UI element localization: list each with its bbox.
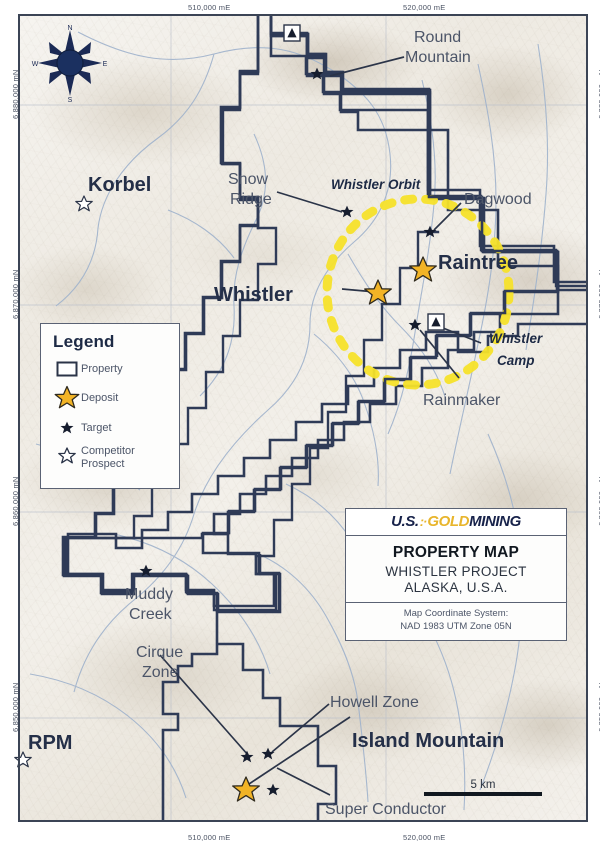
hollow-star-icon [53, 446, 81, 466]
title-block-main: PROPERTY MAP WHISTLER PROJECT ALASKA, U.… [346, 536, 566, 602]
grid-label-left: 6,870,000 mN [11, 269, 20, 319]
grid-label-left: 6,860,000 mN [11, 476, 20, 526]
legend-item-label: Competitor Prospect [81, 445, 135, 470]
compass-w: W [32, 61, 39, 68]
legend-item-label: Property [81, 363, 123, 376]
property-rectangle-icon [53, 361, 81, 377]
compass-n: N [67, 25, 72, 32]
map-title: PROPERTY MAP [352, 544, 560, 562]
compass-s: S [68, 97, 73, 104]
compass-rose-icon: N S E W [30, 22, 110, 104]
legend-panel: Legend Property Deposit Target [40, 323, 180, 489]
legend-title: Legend [53, 332, 169, 352]
legend-item-label: Deposit [81, 392, 118, 405]
black-star-icon [53, 419, 81, 437]
title-block: U.S.:·GOLDMINING PROPERTY MAP WHISTLER P… [345, 508, 567, 641]
legend-item-property: Property [53, 361, 169, 377]
grid-label-bottom: 510,000 mE [188, 833, 230, 842]
legend-item-competitor-prospect: Competitor Prospect [53, 445, 169, 470]
grid-label-top: 520,000 mE [403, 3, 445, 12]
gold-star-icon [53, 385, 81, 411]
logo-us-text: U.S. [391, 513, 419, 530]
grid-label-left: 6,850,000 mN [11, 682, 20, 732]
legend-item-target: Target [53, 419, 169, 437]
legend-item-deposit: Deposit [53, 385, 169, 411]
scale-bar: 5 km [424, 779, 542, 796]
grid-label-bottom: 520,000 mE [403, 833, 445, 842]
company-logo: U.S.:·GOLDMINING [346, 509, 566, 536]
legend-item-label: Target [81, 422, 112, 435]
grid-label-top: 510,000 mE [188, 3, 230, 12]
coord-system-value: NAD 1983 UTM Zone 05N [350, 621, 562, 634]
project-name: WHISTLER PROJECT [352, 564, 560, 579]
coordinate-system-box: Map Coordinate System: NAD 1983 UTM Zone… [346, 602, 566, 640]
project-location: ALASKA, U.S.A. [352, 580, 560, 595]
coord-system-label: Map Coordinate System: [350, 608, 562, 621]
logo-gold-text: GOLD [427, 513, 469, 530]
logo-mining-text: MINING [469, 513, 521, 530]
property-map: N S E W [0, 0, 600, 848]
scale-bar-line [424, 792, 542, 796]
compass-e: E [103, 61, 108, 68]
scale-bar-label: 5 km [424, 779, 542, 791]
grid-label-left: 6,880,000 mN [11, 69, 20, 119]
